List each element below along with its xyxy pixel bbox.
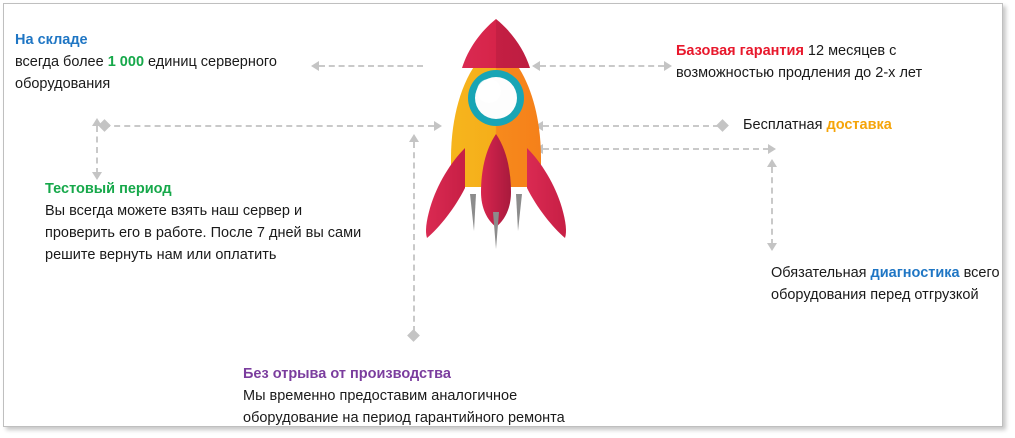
- text-block-stock: На складе всегда более 1 000 единиц серв…: [15, 29, 277, 95]
- connector-test-arrow-up: [92, 118, 102, 126]
- delivery-highlight: доставка: [826, 117, 891, 133]
- test-period-line2: проверить его в работе. После 7 дней вы …: [45, 225, 361, 241]
- stock-line2: оборудования: [15, 76, 110, 92]
- rocket-right-fin: [527, 148, 566, 238]
- production-line1: Мы временно предоставим аналогичное: [243, 388, 517, 404]
- warranty-heading: Базовая гарантия: [676, 43, 804, 59]
- stock-line1: всегда более 1 000 единиц серверного: [15, 54, 277, 70]
- rocket-nose-cone: [462, 19, 530, 68]
- warranty-line1: Базовая гарантия 12 месяцев с: [676, 43, 896, 59]
- connector-production-end-diamond: [407, 329, 420, 342]
- warranty-line2: возможностью продления до 2-х лет: [676, 65, 922, 81]
- text-block-delivery: Бесплатная доставка: [743, 114, 892, 136]
- text-block-production: Без отрыва от производства Мы временно п…: [243, 363, 565, 429]
- warranty-line1-post: 12 месяцев с: [804, 43, 897, 59]
- diagnostics-line1: Обязательная диагностика всего: [771, 265, 1000, 281]
- connector-diagnostics-arrow-up: [767, 159, 777, 167]
- text-block-test-period: Тестовый период Вы всегда можете взять н…: [45, 178, 361, 266]
- connector-diagnostics-arrow-right: [768, 144, 776, 154]
- diagnostics-line1-post: всего: [960, 265, 1000, 281]
- connector-stock: [319, 65, 423, 67]
- stock-line1-pre: всегда более: [15, 54, 108, 70]
- text-block-warranty: Базовая гарантия 12 месяцев с возможност…: [676, 40, 922, 84]
- test-period-line3: решите вернуть нам или оплатить: [45, 247, 276, 263]
- rocket-icon: [417, 16, 575, 251]
- connector-delivery-end-diamond: [716, 119, 729, 132]
- infographic-canvas: На складе всегда более 1 000 единиц серв…: [0, 0, 1015, 438]
- test-period-heading: Тестовый период: [45, 178, 361, 200]
- infographic-frame: На складе всегда более 1 000 единиц серв…: [3, 3, 1003, 427]
- production-line2: оборудование на период гарантийного ремо…: [243, 410, 565, 426]
- connector-production-vertical: [413, 142, 415, 332]
- rocket-window-highlight: [477, 79, 501, 103]
- connector-test-horizontal: [104, 125, 434, 127]
- delivery-pre: Бесплатная: [743, 117, 826, 133]
- stock-highlight-count: 1 000: [108, 54, 144, 70]
- stock-heading: На складе: [15, 29, 277, 51]
- text-block-diagnostics: Обязательная диагностика всего оборудова…: [771, 262, 1000, 306]
- connector-stock-arrow-left: [311, 61, 319, 71]
- diagnostics-highlight: диагностика: [871, 265, 960, 281]
- test-period-line1: Вы всегда можете взять наш сервер и: [45, 203, 302, 219]
- connector-diagnostics-horizontal: [543, 148, 769, 150]
- stock-line1-post: единиц серверного: [144, 54, 277, 70]
- production-heading: Без отрыва от производства: [243, 363, 565, 385]
- rocket-exhaust-right: [516, 194, 522, 231]
- connector-diagnostics-vertical: [771, 167, 773, 245]
- connector-diagnostics-arrow-down: [767, 243, 777, 251]
- connector-warranty-arrow-right: [664, 61, 672, 71]
- rocket-exhaust-center: [493, 212, 499, 249]
- diagnostics-line1-pre: Обязательная: [771, 265, 871, 281]
- rocket-left-fin: [426, 148, 465, 238]
- connector-test-vertical: [96, 126, 98, 174]
- rocket-exhaust-left: [470, 194, 476, 231]
- diagnostics-line2: оборудования перед отгрузкой: [771, 287, 979, 303]
